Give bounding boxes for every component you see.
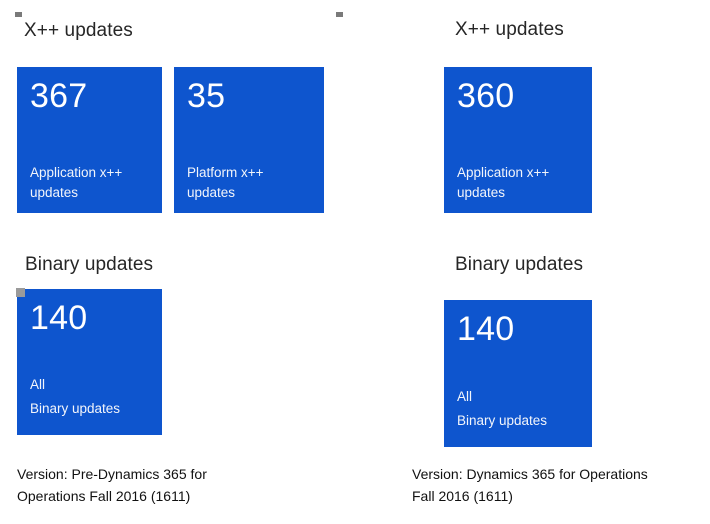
selection-handle-icon[interactable] <box>336 12 343 17</box>
tile-caption-line-2: updates <box>187 183 312 203</box>
version-line-2: Operations Fall 2016 (1611) <box>17 485 347 507</box>
tile-number: 140 <box>30 299 150 337</box>
tile-number: 140 <box>457 310 580 348</box>
tile-caption-line-2: updates <box>30 183 150 203</box>
version-caption-left: Version: Pre-Dynamics 365 for Operations… <box>17 463 347 507</box>
tile-caption: All Binary updates <box>457 385 580 433</box>
selection-handle-icon[interactable] <box>16 288 25 297</box>
version-caption-right: Version: Dynamics 365 for Operations Fal… <box>412 463 710 507</box>
heading-xpp-left: X++ updates <box>24 20 133 42</box>
tile-application-xpp-left[interactable]: 367 Application x++ updates <box>17 67 162 213</box>
tile-caption-line-1: All <box>30 373 150 397</box>
tile-caption-line-2: Binary updates <box>30 397 150 421</box>
tile-caption-line-1: Application x++ <box>457 163 580 183</box>
tile-number: 35 <box>187 77 312 115</box>
tile-binary-updates-left[interactable]: 140 All Binary updates <box>17 289 162 435</box>
tile-binary-updates-right[interactable]: 140 All Binary updates <box>444 300 592 447</box>
version-line-1: Version: Pre-Dynamics 365 for <box>17 463 347 485</box>
tile-caption-line-1: Application x++ <box>30 163 150 183</box>
tile-caption: All Binary updates <box>30 373 150 421</box>
tile-number: 360 <box>457 77 580 115</box>
heading-binary-left: Binary updates <box>25 254 153 276</box>
tile-number: 367 <box>30 77 150 115</box>
tile-caption-line-2: Binary updates <box>457 409 580 433</box>
version-line-1: Version: Dynamics 365 for Operations <box>412 463 710 485</box>
version-line-2: Fall 2016 (1611) <box>412 485 710 507</box>
tile-caption-line-1: All <box>457 385 580 409</box>
selection-handle-icon[interactable] <box>15 12 22 17</box>
heading-xpp-right: X++ updates <box>455 19 564 41</box>
tile-caption: Application x++ updates <box>457 163 580 203</box>
heading-binary-right: Binary updates <box>455 254 583 276</box>
tile-caption-line-2: updates <box>457 183 580 203</box>
tile-platform-xpp-left[interactable]: 35 Platform x++ updates <box>174 67 324 213</box>
tile-caption: Platform x++ updates <box>187 163 312 203</box>
tile-application-xpp-right[interactable]: 360 Application x++ updates <box>444 67 592 213</box>
slide-canvas: X++ updates 367 Application x++ updates … <box>0 0 710 524</box>
tile-caption-line-1: Platform x++ <box>187 163 312 183</box>
tile-caption: Application x++ updates <box>30 163 150 203</box>
